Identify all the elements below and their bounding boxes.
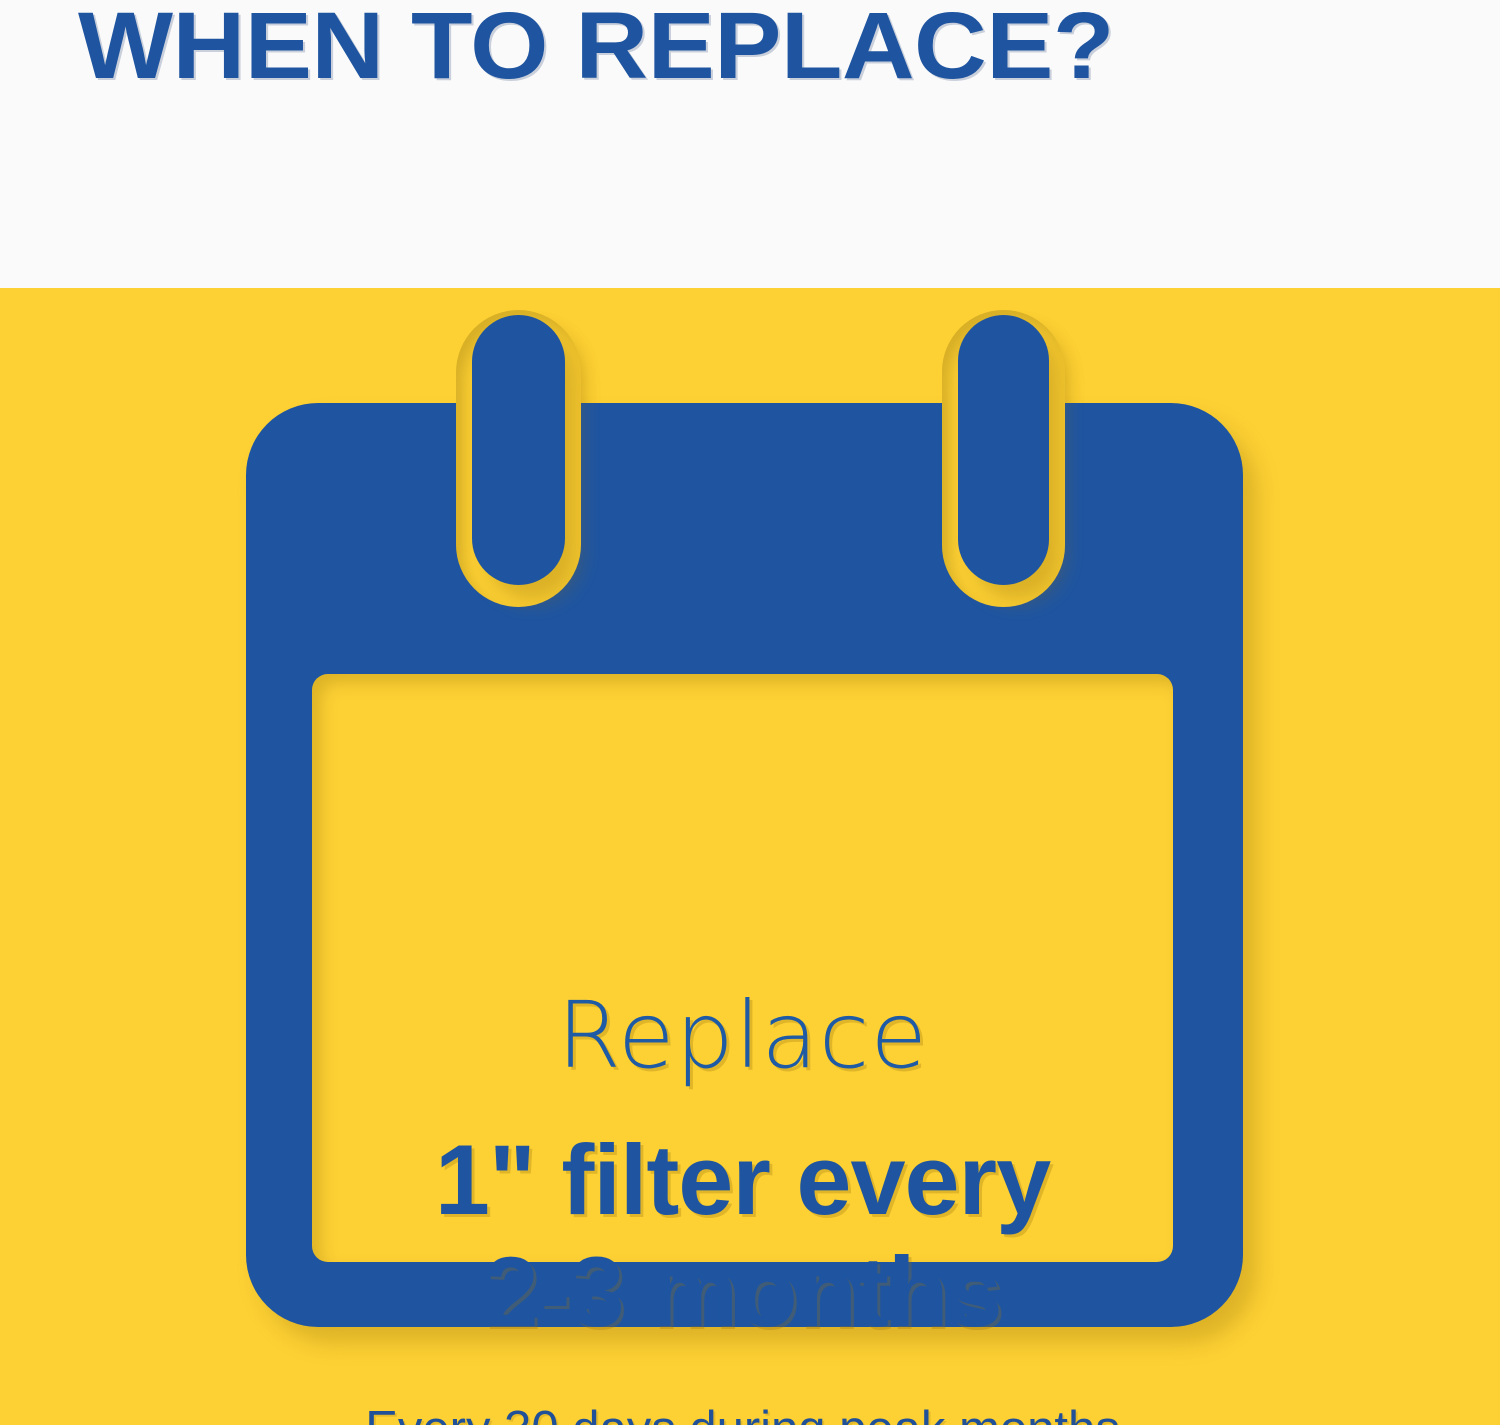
calendar-window-content: Replace 1" filter every 2-3 months Every… — [312, 962, 1173, 1425]
header-band: WHEN TO REPLACE? — [0, 0, 1500, 288]
yellow-stage: Replace 1" filter every 2-3 months Every… — [0, 288, 1500, 1425]
replace-headline-line-1: 1" filter every — [312, 1124, 1173, 1236]
replace-eyebrow: Replace — [312, 986, 1173, 1086]
calendar-ring-left — [472, 315, 565, 585]
calendar-ring-right — [958, 315, 1049, 585]
infographic-canvas: WHEN TO REPLACE? Replace 1" filter every… — [0, 0, 1500, 1425]
page-title: WHEN TO REPLACE? — [78, 0, 1265, 96]
replace-headline-line-2: 2-3 months — [312, 1236, 1173, 1348]
replace-headline: 1" filter every 2-3 months — [312, 1124, 1173, 1348]
replace-note: Every 30 days during peak months — [312, 1400, 1173, 1425]
